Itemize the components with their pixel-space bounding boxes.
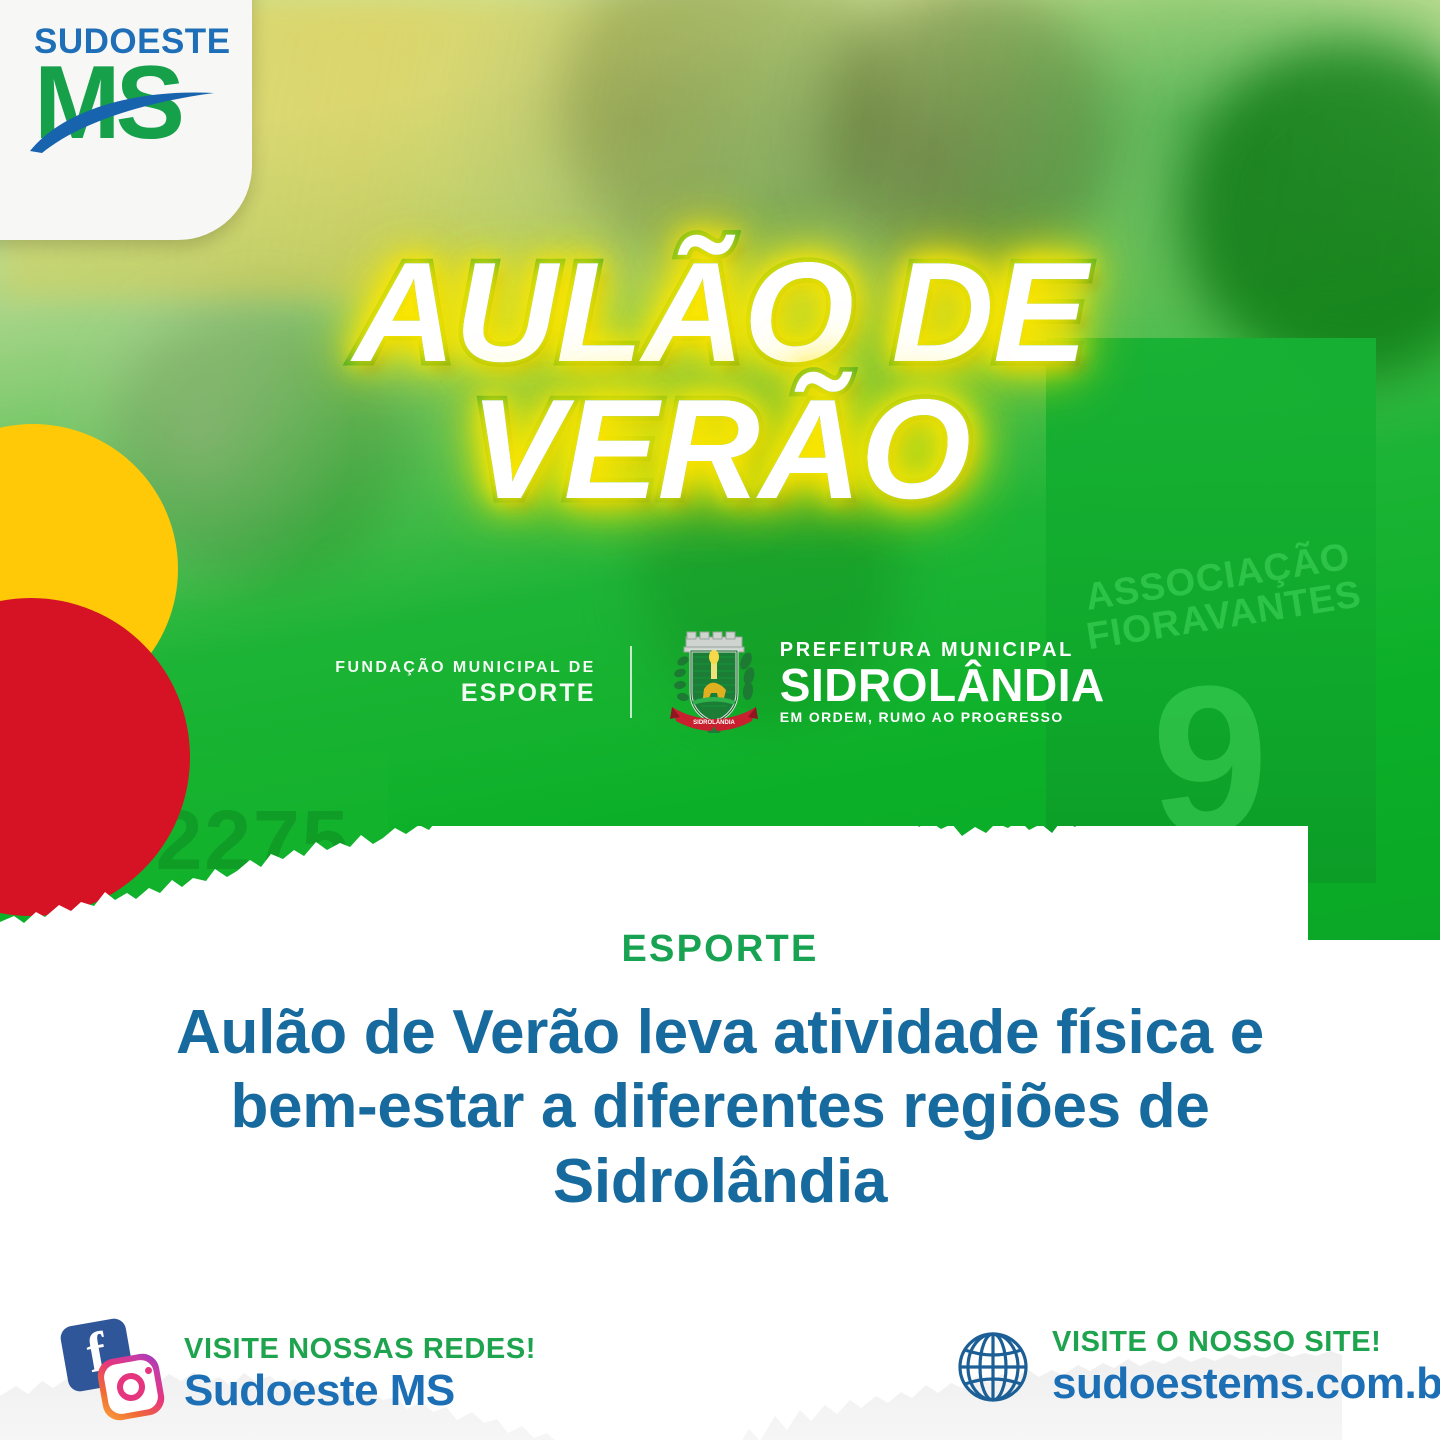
city-hall-logo: PREFEITURA MUNICIPAL SIDROLÂNDIA EM ORDE…	[780, 640, 1105, 724]
hero-title-line1-text: AULÃO DE	[353, 248, 1087, 379]
website-footer-block[interactable]: VISITE O NOSSO SITE! sudoestems.com.br	[952, 1326, 1440, 1408]
brand-logo: SUDOESTE MS	[34, 24, 210, 174]
social-footer-block[interactable]: f VISITE NOSSAS REDES! Sudoeste MS	[62, 1322, 536, 1426]
website-footer-label: VISITE O NOSSO SITE!	[1052, 1328, 1440, 1357]
hero-title-line2-text: VERÃO	[470, 385, 970, 516]
foundation-label-line2: ESPORTE	[335, 680, 595, 708]
social-footer-label: VISITE NOSSAS REDES!	[184, 1335, 536, 1364]
footer: f VISITE NOSSAS REDES! Sudoeste MS	[0, 1316, 1440, 1440]
city-motto: EM ORDEM, RUMO AO PROGRESSO	[780, 710, 1105, 724]
city-label-line2: SIDROLÂNDIA	[780, 662, 1105, 708]
foundation-logo: FUNDAÇÃO MUNICIPAL DE ESPORTE	[335, 656, 629, 708]
social-media-poster: ASSOCIAÇÃO FIORAVANTES 9 2275 FUNDAÇÃO M…	[0, 0, 1440, 1440]
social-footer-handle[interactable]: Sudoeste MS	[184, 1369, 536, 1413]
city-label-line1: PREFEITURA MUNICIPAL	[780, 640, 1105, 660]
swoosh-icon	[28, 89, 216, 155]
partner-logos-row: FUNDAÇÃO MUNICIPAL DE ESPORTE	[0, 628, 1440, 736]
article-kicker: ESPORTE	[0, 928, 1440, 971]
brasao-sidrolandia-icon: SIDROLÂNDIA	[666, 631, 762, 733]
globe-icon[interactable]	[952, 1326, 1034, 1408]
foundation-label-line1: FUNDAÇÃO MUNICIPAL DE	[335, 656, 595, 680]
hero-title-line2: VERÃO	[0, 385, 1440, 516]
website-footer-url[interactable]: sudoestems.com.br	[1052, 1362, 1440, 1406]
hero-title-line1: AULÃO DE	[0, 248, 1440, 379]
article-headline: Aulão de Verão leva atividade física e b…	[130, 996, 1310, 1219]
partner-divider	[630, 646, 632, 718]
social-footer-text: VISITE NOSSAS REDES! Sudoeste MS	[184, 1335, 536, 1413]
brand-logo-card[interactable]: SUDOESTE MS	[0, 0, 252, 240]
svg-text:SIDROLÂNDIA: SIDROLÂNDIA	[693, 719, 735, 726]
hero-title: AULÃO DE VERÃO	[0, 248, 1440, 515]
website-footer-text: VISITE O NOSSO SITE! sudoestems.com.br	[1052, 1328, 1440, 1406]
social-icons-group: f	[62, 1322, 166, 1426]
brand-logo-ms-wrap: MS	[34, 55, 210, 159]
